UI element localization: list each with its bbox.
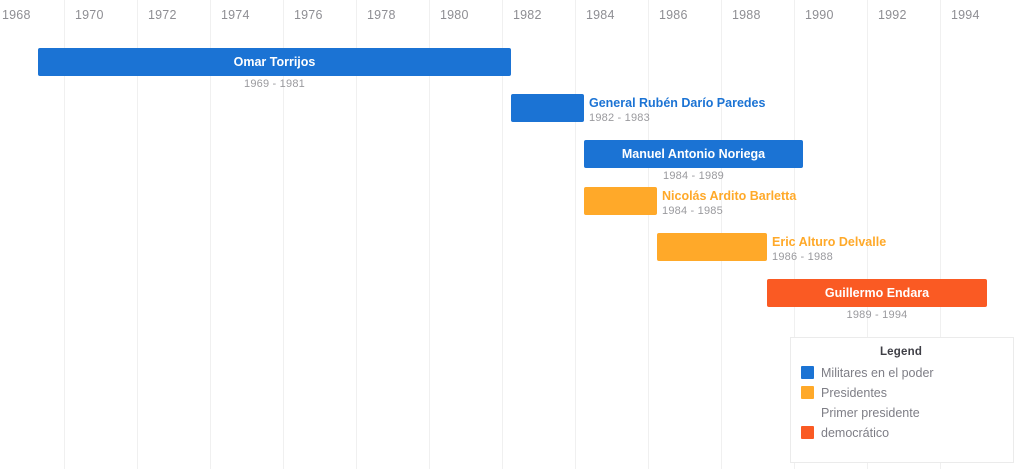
timeline-bar[interactable] (38, 48, 511, 76)
timeline-bar-range: 1969 - 1981 (38, 78, 511, 90)
legend-item[interactable]: Militares en el poder (801, 364, 1001, 382)
timeline-bar-label: Eric Alturo Delvalle (772, 234, 886, 250)
timeline-bar[interactable] (584, 187, 657, 215)
timeline-bar-range: 1984 - 1989 (584, 170, 803, 182)
timeline-bar-row: General Rubén Darío Paredes1982 - 1983 (0, 94, 1023, 140)
timeline-bar[interactable] (767, 279, 987, 307)
legend-item-label: Primer presidente (821, 404, 920, 422)
timeline-bar-range: 1986 - 1988 (772, 251, 833, 263)
timeline-bar[interactable] (584, 140, 803, 168)
timeline-bar-row: Manuel Antonio Noriega1984 - 1989 (0, 140, 1023, 186)
timeline-bar-label: General Rubén Darío Paredes (589, 95, 765, 111)
legend-item[interactable]: Primer presidente (801, 404, 1001, 422)
timeline-bar-row: Guillermo Endara1989 - 1994 (0, 279, 1023, 325)
timeline-bar-range: 1989 - 1994 (767, 309, 987, 321)
legend-swatch-icon (801, 426, 814, 439)
timeline-bar-range: 1982 - 1983 (589, 112, 650, 124)
legend-swatch-icon (801, 386, 814, 399)
timeline-bar[interactable] (657, 233, 767, 261)
timeline-bar-range: 1984 - 1985 (662, 205, 723, 217)
timeline-bar-row: Eric Alturo Delvalle1986 - 1988 (0, 233, 1023, 279)
timeline-bar[interactable] (511, 94, 584, 122)
legend-swatch-spacer-icon (801, 406, 814, 419)
legend-item-label: Militares en el poder (821, 364, 934, 382)
timeline-bar-row: Nicolás Ardito Barletta1984 - 1985 (0, 187, 1023, 233)
timeline-chart: 1968197019721974197619781980198219841986… (0, 0, 1023, 469)
timeline-bar-row: Omar Torrijos1969 - 1981 (0, 48, 1023, 94)
legend-swatch-icon (801, 366, 814, 379)
legend-title: Legend (801, 346, 1001, 358)
legend-items: Militares en el poderPresidentesPrimer p… (801, 364, 1001, 442)
legend: Legend Militares en el poderPresidentesP… (790, 337, 1014, 463)
legend-item-label: Presidentes (821, 384, 887, 402)
timeline-bar-label: Nicolás Ardito Barletta (662, 188, 796, 204)
legend-item-label: democrático (821, 424, 889, 442)
legend-item[interactable]: Presidentes (801, 384, 1001, 402)
legend-item[interactable]: democrático (801, 424, 1001, 442)
